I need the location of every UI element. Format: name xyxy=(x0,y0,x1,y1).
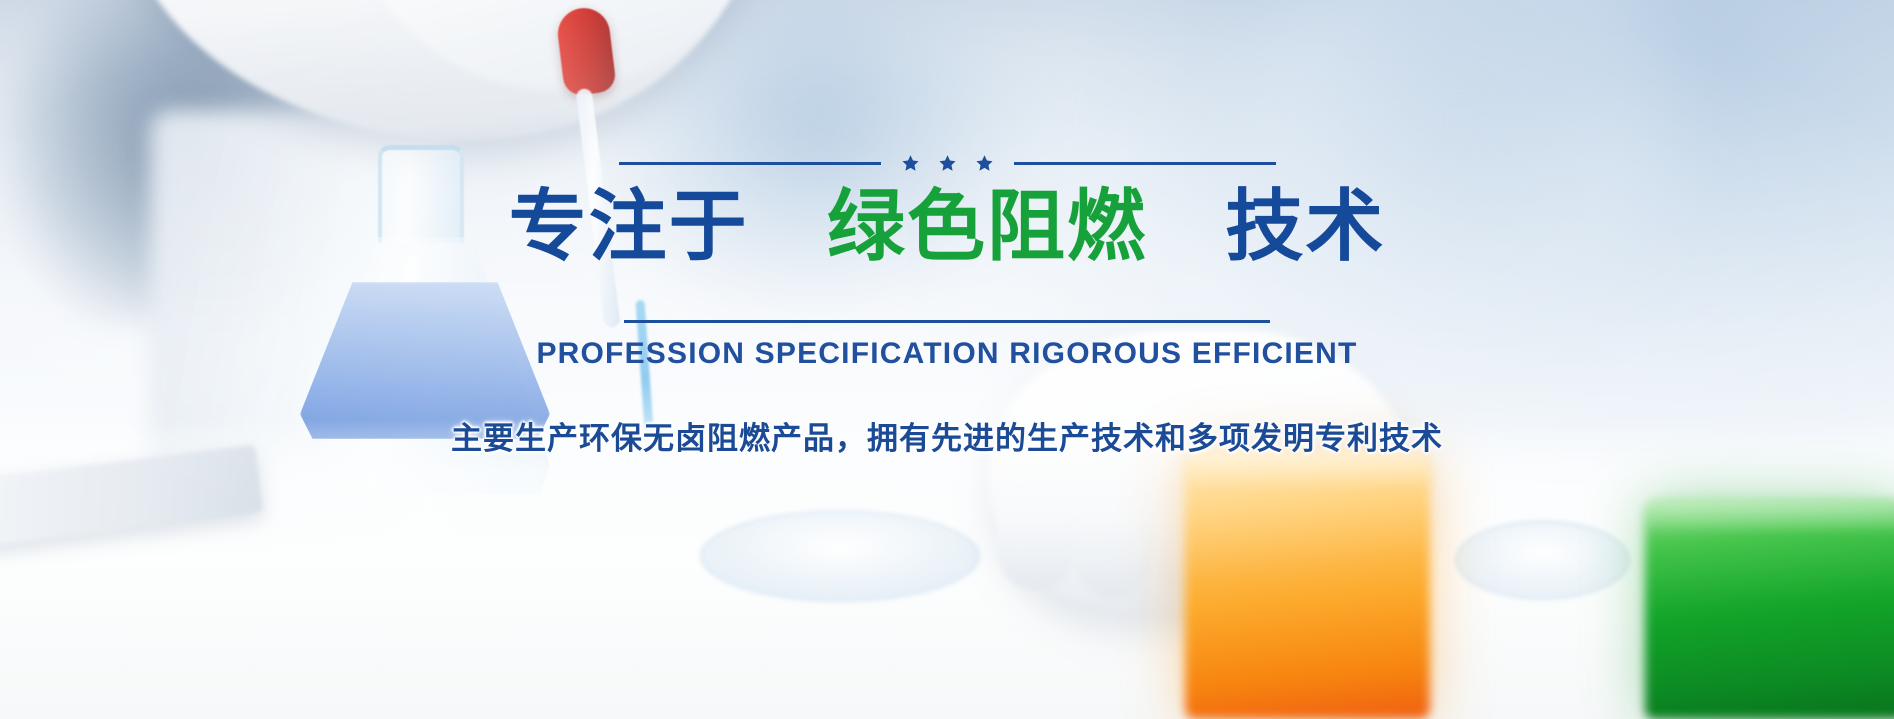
star-icon xyxy=(901,154,920,173)
subtitle-english: PROFESSION SPECIFICATION RIGOROUS EFFICI… xyxy=(0,337,1894,371)
banner-content: 专注于 绿色阻燃 技术 PROFESSION SPECIFICATION RIG… xyxy=(0,150,1894,458)
title-segment-2: 绿色阻燃 xyxy=(827,182,1147,272)
star-icon xyxy=(975,154,994,173)
title-underline-rule xyxy=(624,320,1270,323)
decorative-star-rule xyxy=(0,150,1894,176)
rule-line-left xyxy=(619,162,881,165)
rule-line-right xyxy=(1014,162,1276,165)
tagline-chinese: 主要生产环保无卤阻燃产品，拥有先进的生产技术和多项发明专利技术 xyxy=(0,413,1894,458)
title-segment-1: 专注于 xyxy=(509,182,749,272)
page-title: 专注于 绿色阻燃 技术 xyxy=(0,188,1894,268)
title-segment-3: 技术 xyxy=(1225,182,1385,272)
star-group xyxy=(895,154,1000,173)
hero-banner: 专注于 绿色阻燃 技术 PROFESSION SPECIFICATION RIG… xyxy=(0,0,1894,719)
star-icon xyxy=(938,154,957,173)
